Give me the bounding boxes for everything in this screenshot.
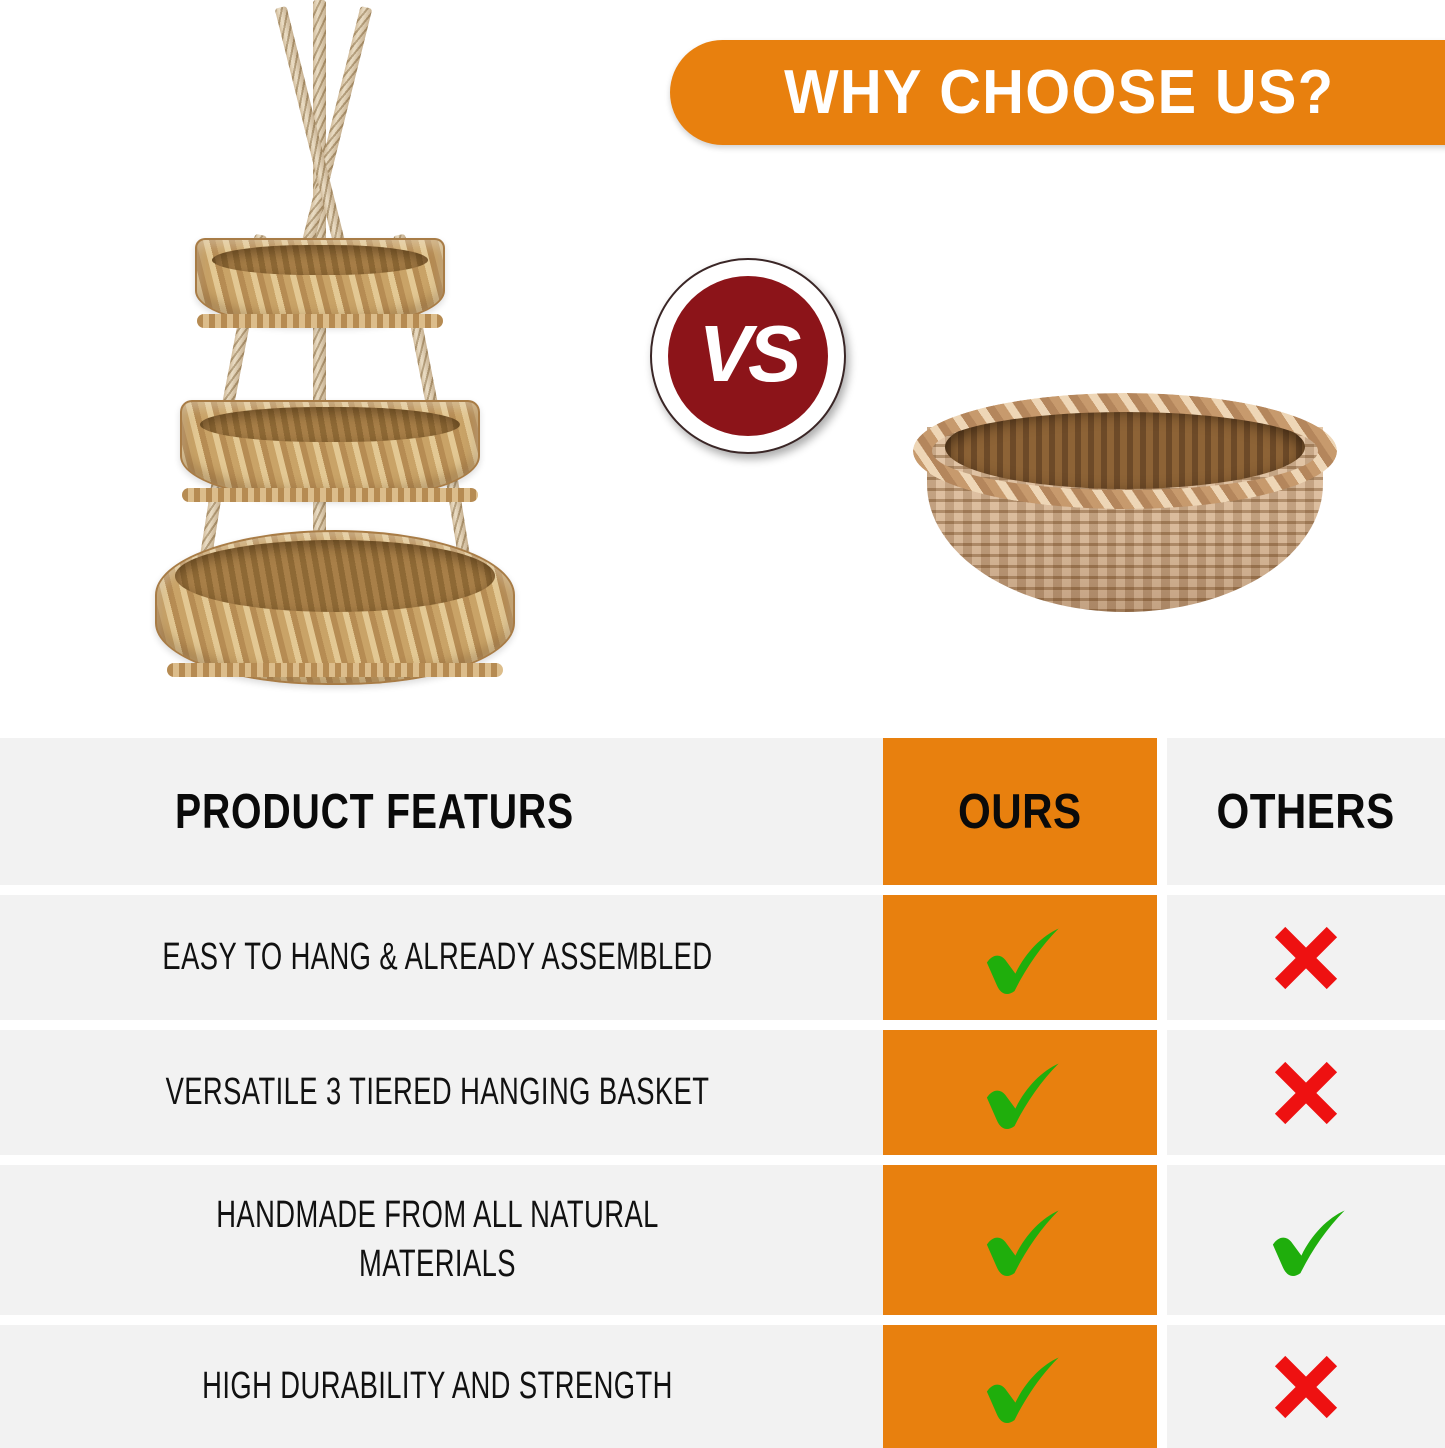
wicker-basket-rim: [913, 393, 1337, 509]
column-divider: [1157, 1165, 1167, 1315]
header-features-label: PRODUCT FEATURS: [175, 784, 574, 840]
ours-cell: [883, 1325, 1157, 1448]
competitor-product-image: [905, 385, 1345, 630]
ours-cell: [883, 895, 1157, 1020]
check-icon: [974, 1047, 1066, 1139]
feature-label-wrap: HANDMADE FROM ALL NATURAL MATERIALS: [147, 1191, 747, 1288]
header-cell-ours: OURS: [883, 738, 1157, 885]
vs-badge: VS: [650, 258, 846, 454]
table-row: EASY TO HANG & ALREADY ASSEMBLED: [0, 895, 1445, 1020]
feature-cell: EASY TO HANG & ALREADY ASSEMBLED: [0, 895, 883, 1020]
column-divider: [1157, 1030, 1167, 1155]
others-cell: [1167, 1030, 1445, 1155]
feature-label-line1: HANDMADE FROM ALL NATURAL: [147, 1191, 729, 1240]
check-icon: [974, 1194, 1066, 1286]
tier-middle-interior: [200, 407, 461, 442]
header-ours-label: OURS: [958, 784, 1081, 840]
table-row: VERSATILE 3 TIERED HANGING BASKET: [0, 1030, 1445, 1155]
basket-tier-bottom: [155, 530, 515, 685]
our-product-image: [150, 0, 570, 720]
header-cell-features: PRODUCT FEATURS: [0, 738, 883, 885]
cross-icon: [1269, 1350, 1343, 1424]
banner-title: WHY CHOOSE US?: [784, 57, 1345, 128]
column-divider: [1157, 895, 1167, 1020]
feature-cell: VERSATILE 3 TIERED HANGING BASKET: [0, 1030, 883, 1155]
others-cell: [1167, 1325, 1445, 1448]
others-cell: [1167, 895, 1445, 1020]
tier-middle-rim: [182, 488, 478, 502]
column-divider: [1157, 1325, 1167, 1448]
tier-top-interior: [212, 245, 429, 275]
feature-cell: HANDMADE FROM ALL NATURAL MATERIALS: [0, 1165, 883, 1315]
check-icon: [974, 912, 1066, 1004]
ours-cell: [883, 1165, 1157, 1315]
header-cell-others: OTHERS: [1167, 738, 1445, 885]
tier-top-rim: [197, 314, 443, 328]
check-icon: [974, 1341, 1066, 1433]
tier-bottom-rim: [167, 663, 503, 677]
vs-label: VS: [699, 314, 798, 394]
feature-cell: HIGH DURABILITY AND STRENGTH: [0, 1325, 883, 1448]
header-others-label: OTHERS: [1217, 784, 1395, 840]
comparison-table: PRODUCT FEATURS OURS OTHERS EASY TO HANG…: [0, 738, 1445, 1448]
table-row: HANDMADE FROM ALL NATURAL MATERIALS: [0, 1165, 1445, 1315]
basket-tier-top: [195, 238, 445, 326]
cross-icon: [1269, 1056, 1343, 1130]
feature-label: VERSATILE 3 TIERED HANGING BASKET: [147, 1068, 747, 1117]
check-icon: [1260, 1194, 1352, 1286]
vs-badge-circle: VS: [668, 276, 828, 436]
tier-bottom-interior: [175, 540, 495, 612]
column-divider: [1157, 738, 1167, 885]
table-row: HIGH DURABILITY AND STRENGTH: [0, 1325, 1445, 1448]
table-header-row: PRODUCT FEATURS OURS OTHERS: [0, 738, 1445, 885]
feature-label-line2: MATERIALS: [147, 1240, 729, 1289]
cross-icon: [1269, 921, 1343, 995]
ours-cell: [883, 1030, 1157, 1155]
basket-tier-middle: [180, 400, 480, 500]
others-cell: [1167, 1165, 1445, 1315]
why-choose-us-banner: WHY CHOOSE US?: [670, 40, 1445, 145]
feature-label: HIGH DURABILITY AND STRENGTH: [147, 1362, 747, 1411]
feature-label: EASY TO HANG & ALREADY ASSEMBLED: [147, 933, 747, 982]
